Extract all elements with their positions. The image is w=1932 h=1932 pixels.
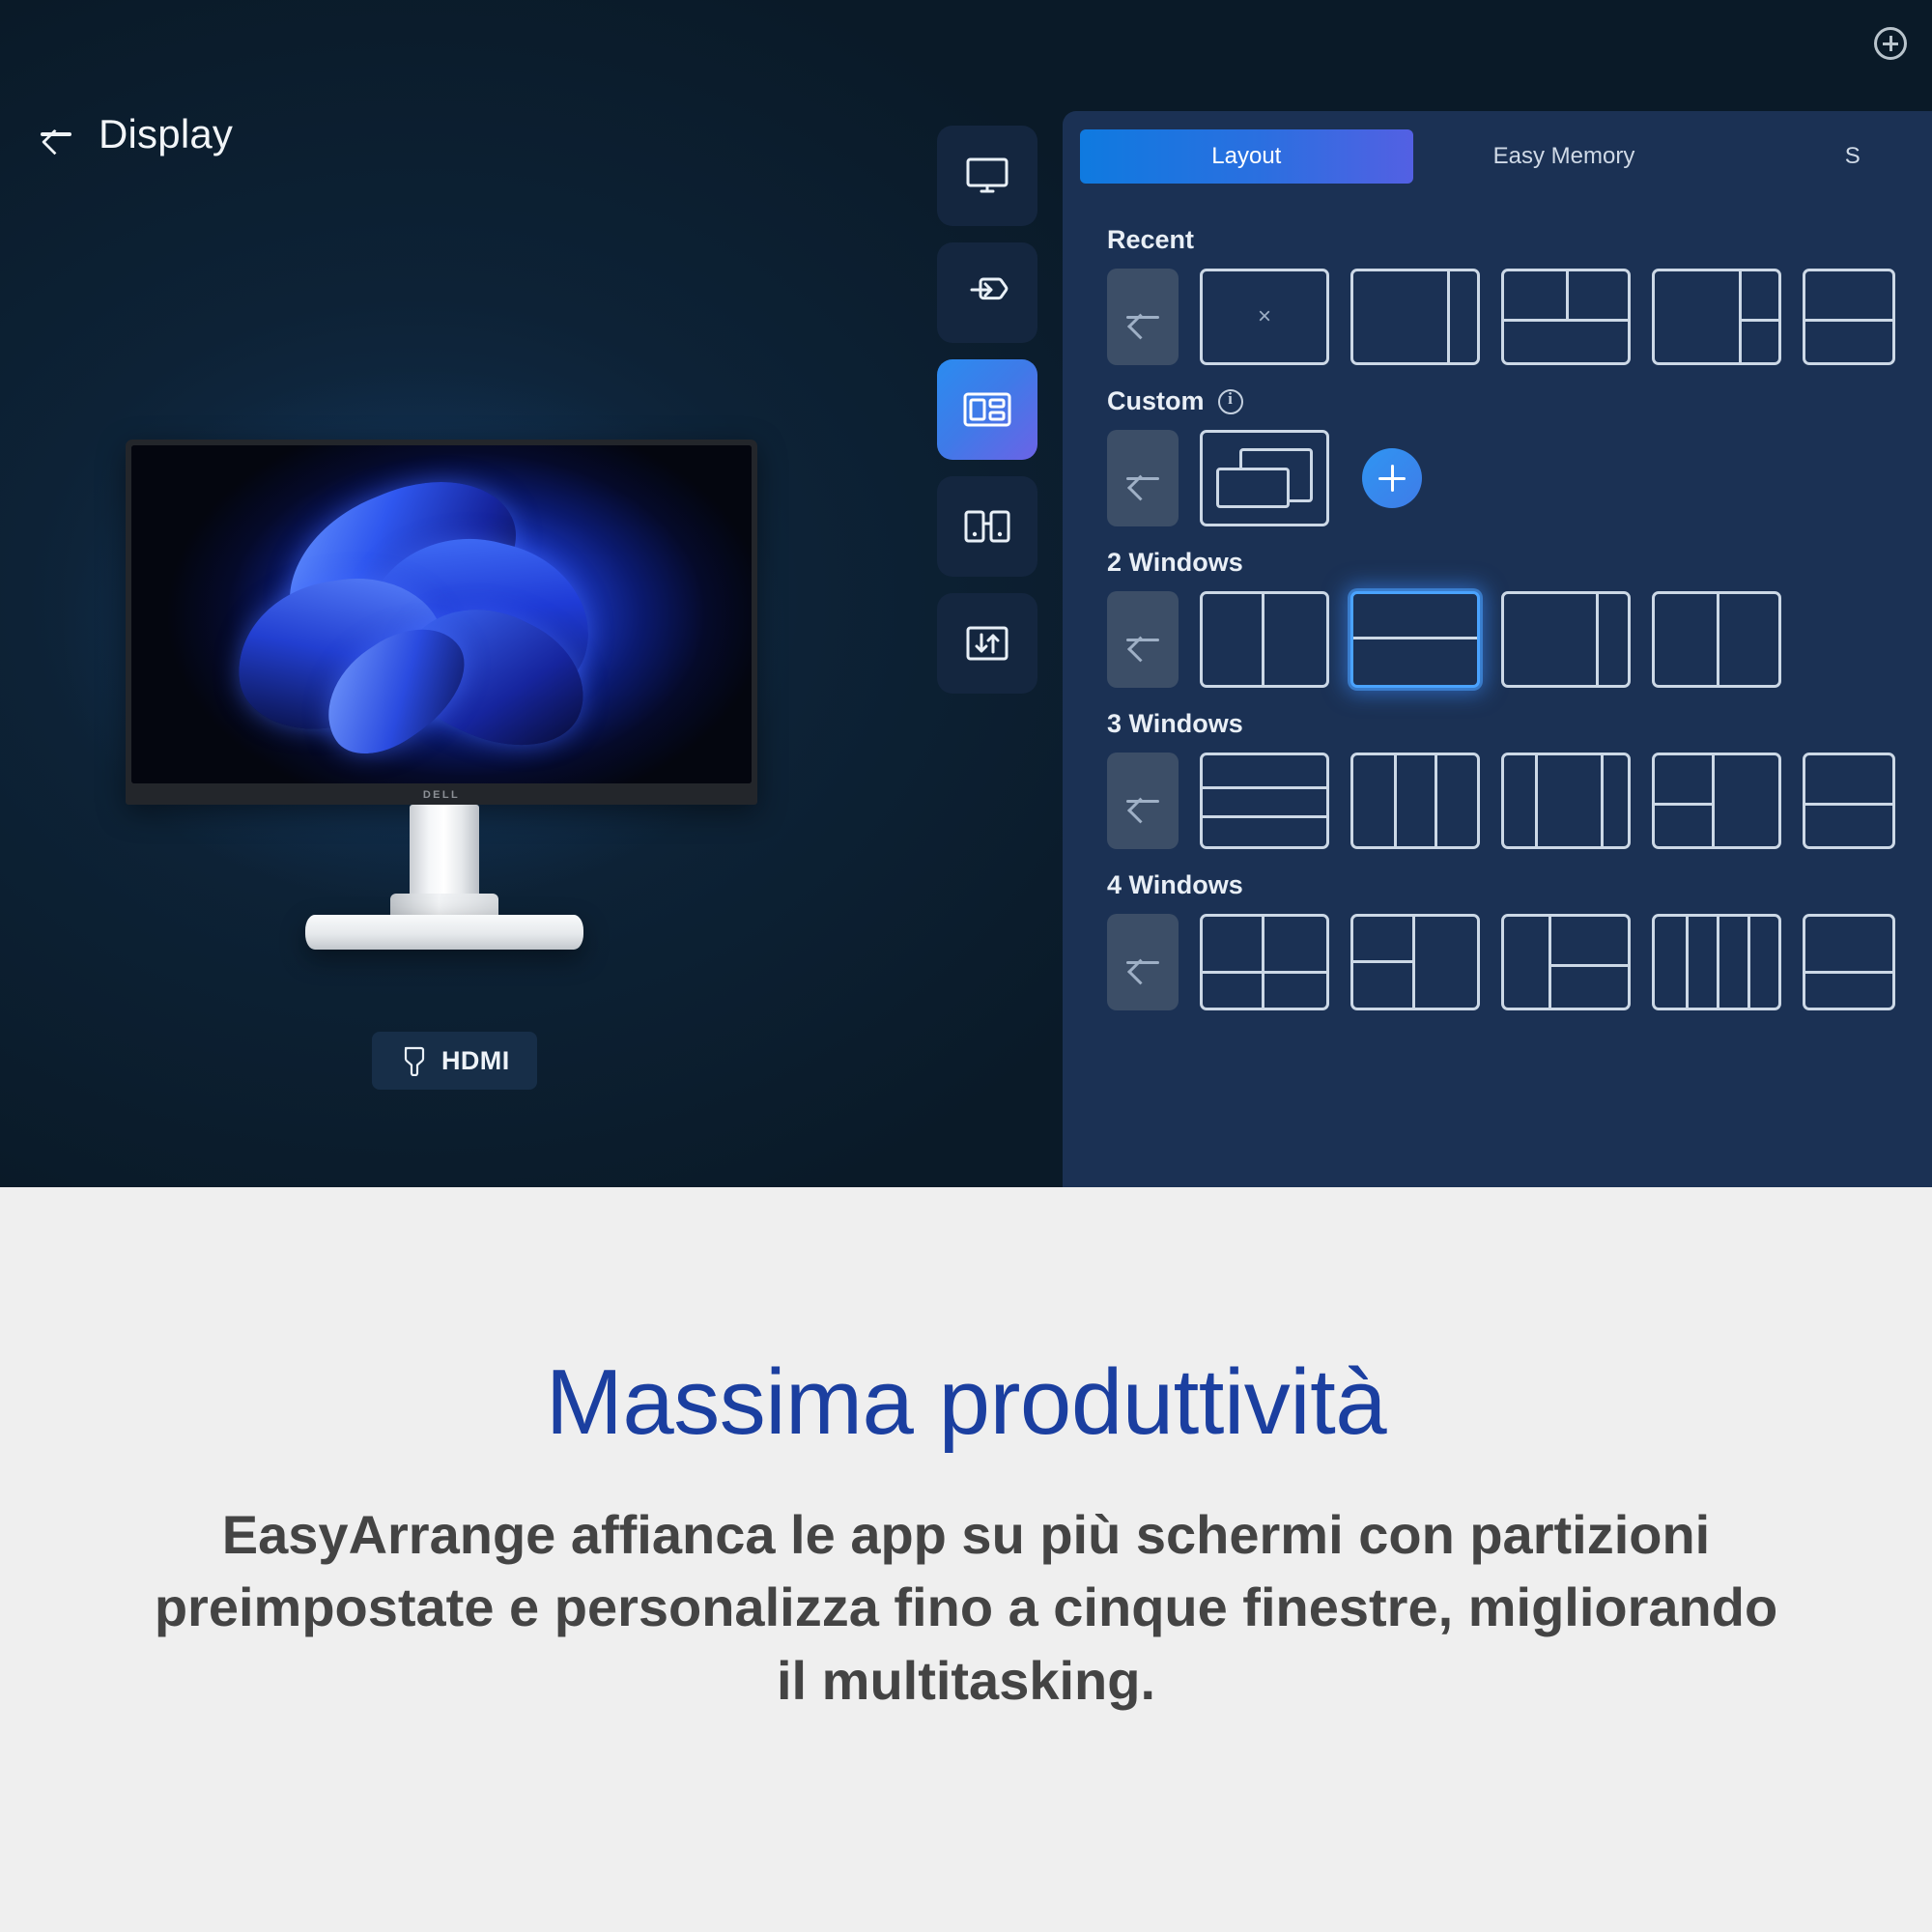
layout-row-custom [1107,430,1932,526]
row-back-button[interactable] [1107,914,1179,1010]
arrow-left-icon [1126,786,1159,815]
hdmi-plug-icon [399,1045,428,1076]
info-icon[interactable] [1218,389,1243,414]
arrow-left-icon [1126,625,1159,654]
layout-thumb[interactable] [1501,914,1631,1010]
section-title: 3 Windows [1107,709,1243,739]
tab-easy-memory[interactable]: Easy Memory [1413,129,1716,184]
section-header-recent: Recent [1107,225,1932,255]
section-header-2-windows: 2 Windows [1107,548,1932,578]
layout-row-recent: × [1107,269,1932,365]
monitor-stand-base [305,915,583,950]
layout-thumb-selected[interactable] [1350,591,1480,688]
layout-thumb[interactable] [1501,753,1631,849]
layout-thumb[interactable] [1200,591,1329,688]
layout-thumb[interactable] [1803,914,1895,1010]
ddpm-panel: Layout Easy Memory S Recent × Custom [1063,111,1932,1187]
easy-arrange-icon [962,390,1012,429]
layout-thumb[interactable] [1652,914,1781,1010]
headline: Massima produttività [0,1351,1932,1454]
dell-logo: DELL [423,789,460,801]
layout-thumb-none[interactable]: × [1200,269,1329,365]
marketing-copy-section: Massima produttività EasyArrange affianc… [0,1187,1932,1932]
layout-thumb[interactable] [1652,591,1781,688]
dual-device-icon [962,506,1012,547]
row-back-button[interactable] [1107,591,1179,688]
up-down-arrows-icon [965,623,1009,664]
zoom-in-icon[interactable] [1874,27,1907,60]
layout-thumb[interactable] [1350,914,1480,1010]
monitor-bezel: DELL [126,440,757,805]
arrow-left-icon [1126,464,1159,493]
layout-thumb-custom[interactable] [1200,430,1329,526]
layout-row-3-windows [1107,753,1932,849]
arrow-left-icon [1126,302,1159,331]
ddpm-sidebar-rail [937,126,1037,710]
layout-thumb[interactable] [1652,269,1781,365]
section-title: 4 Windows [1107,870,1243,900]
section-title: Recent [1107,225,1194,255]
monitor-stand-neck [410,805,479,907]
sidebar-item-easy-arrange[interactable] [937,359,1037,460]
monitor-icon [964,155,1010,197]
hdmi-label: HDMI [441,1046,510,1076]
layout-thumb[interactable] [1350,269,1480,365]
layout-thumb[interactable] [1803,269,1895,365]
arrow-left-icon [1126,948,1159,977]
row-back-button[interactable] [1107,269,1179,365]
row-back-button[interactable] [1107,430,1179,526]
layout-thumb[interactable] [1652,753,1781,849]
layout-thumb[interactable] [1350,753,1480,849]
monitor-screen [131,445,752,783]
section-title: 2 Windows [1107,548,1243,578]
status-badge: HDMI [372,1032,537,1090]
overlapping-windows-icon [1216,448,1313,508]
section-header-3-windows: 3 Windows [1107,709,1932,739]
tab-settings[interactable]: S [1715,129,1932,184]
layout-thumb[interactable] [1501,591,1631,688]
display-header: Display [39,111,233,157]
input-source-icon [964,271,1010,314]
section-title: Custom [1107,386,1205,416]
layout-thumb[interactable] [1501,269,1631,365]
tab-layout[interactable]: Layout [1080,129,1413,184]
close-icon: × [1258,303,1271,330]
monitor-product-image: DELL [126,440,763,952]
layout-thumb[interactable] [1200,914,1329,1010]
sidebar-item-kvm[interactable] [937,476,1037,577]
layout-row-2-windows [1107,591,1932,688]
ddpm-tab-bar: Layout Easy Memory S [1080,127,1932,186]
body-copy: EasyArrange affianca le app su più scher… [135,1498,1797,1718]
section-header-4-windows: 4 Windows [1107,870,1932,900]
hero-screenshot-area: Display DELL HDMI [0,0,1932,1187]
arrow-left-icon[interactable] [39,117,73,152]
layout-thumb[interactable] [1803,753,1895,849]
add-custom-layout-button[interactable] [1362,448,1422,508]
row-back-button[interactable] [1107,753,1179,849]
section-header-custom: Custom [1107,386,1932,416]
sidebar-item-auto-restore[interactable] [937,593,1037,694]
ddpm-content: Recent × Custom [1063,204,1932,1187]
layout-row-4-windows [1107,914,1932,1010]
sidebar-item-display[interactable] [937,126,1037,226]
layout-thumb[interactable] [1200,753,1329,849]
page-title: Display [99,111,233,157]
sidebar-item-input-source[interactable] [937,242,1037,343]
